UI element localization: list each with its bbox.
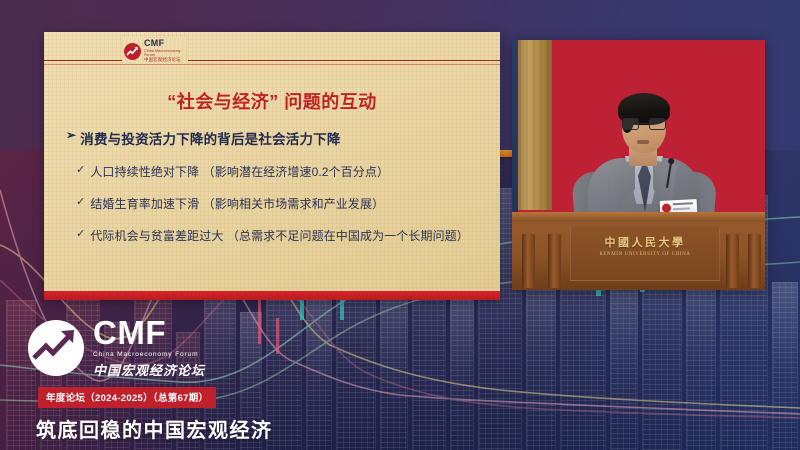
slide-logo-sub-cn: 中国宏观经济论坛 [144,58,186,62]
cmf-chart-arrow-mark-icon [28,320,84,376]
cmf-logo-text-block: CMF China Macroeconomy Forum 中国宏观经济论坛 [93,318,205,379]
cmf-circle-mark-icon [124,43,141,60]
bullet-sub: ✓ 代际机会与贫富差距过大 （总需求不足问题在中国成为一个长期问题） [76,227,486,244]
forum-edition-tag: 年度论坛（2024-2025）（总第67期） [38,387,216,408]
bullet-sub-text: 结婚生育率加速下滑 （影响相关市场需求和产业发展） [90,195,384,212]
glasses-lens-left [622,118,639,130]
chart-arrow-icon [28,320,84,376]
slide-header-rule-2 [44,64,500,65]
slide-logo-texts: CMF China Macroeconomy Forum 中国宏观经济论坛 [144,39,186,62]
bullet-main-text: 消费与投资活力下降的背后是社会活力下降 [80,128,340,148]
slide-logo-cmf: CMF [144,39,186,48]
glasses-bridge [639,123,649,124]
glasses-lens-right [649,118,666,130]
chart-arrow-icon [126,46,139,57]
bullet-main: ➢ 消费与投资活力下降的背后是社会活力下降 [66,128,486,148]
broadcast-stage: CMF China Macroeconomy Forum 中国宏观经济论坛 “社… [0,0,800,450]
cmf-wordmark: CMF [93,318,205,348]
slide-bullet-list: ➢ 消费与投资活力下降的背后是社会活力下降 ✓ 人口持续性绝对下降 （影响潜在经… [66,128,486,259]
slide-footer-bar [44,291,500,300]
badge-text-line-2 [673,207,690,210]
bullet-sub: ✓ 人口持续性绝对下降 （影响潜在经济增速0.2个百分点） [76,163,486,180]
lectern-pillar [726,234,739,288]
bullet-check-marker-icon: ✓ [76,195,85,208]
cmf-name-english: China Macroeconomy Forum [93,351,205,358]
lectern-pillar [522,234,535,288]
slide-title: “社会与经济” 问题的互动 [44,88,500,114]
slide-header-rule [44,60,500,61]
university-name-cn: 中國人民大學 [570,234,720,250]
lectern-pillar [748,234,761,288]
forum-main-title: 筑底回稳的中国宏观经济 [36,414,298,443]
speaker-mouth [637,140,649,144]
badge-text-line-1 [673,202,693,205]
bullet-sub: ✓ 结婚生育率加速下滑 （影响相关市场需求和产业发展） [76,195,486,212]
wood-wall-panel [512,40,552,210]
lectern-top-edge [512,212,765,222]
university-name-en: RENMIN UNIVERSITY OF CHINA [570,252,720,257]
speaker-glasses-icon [622,118,666,131]
bullet-arrow-marker-icon: ➢ [66,128,76,144]
speaker-video-panel[interactable]: 中國人民大學 RENMIN UNIVERSITY OF CHINA [512,40,765,290]
forum-branding: CMF China Macroeconomy Forum 中国宏观经济论坛 年度… [28,318,298,443]
lectern-pillar [548,234,561,288]
cmf-logo-lockup: CMF China Macroeconomy Forum 中国宏观经济论坛 [28,318,298,379]
bullet-check-marker-icon: ✓ [76,227,85,240]
bullet-check-marker-icon: ✓ [76,163,85,176]
presentation-slide: CMF China Macroeconomy Forum 中国宏观经济论坛 “社… [44,32,500,300]
bullet-sub-text: 人口持续性绝对下降 （影响潜在经济增速0.2个百分点） [90,163,389,180]
cmf-name-chinese: 中国宏观经济论坛 [93,360,205,379]
lectern: 中國人民大學 RENMIN UNIVERSITY OF CHINA [512,212,765,290]
slide-cmf-logo: CMF China Macroeconomy Forum 中国宏观经济论坛 [122,38,188,64]
bullet-sub-text: 代际机会与贫富差距过大 （总需求不足问题在中国成为一个长期问题） [90,227,469,244]
